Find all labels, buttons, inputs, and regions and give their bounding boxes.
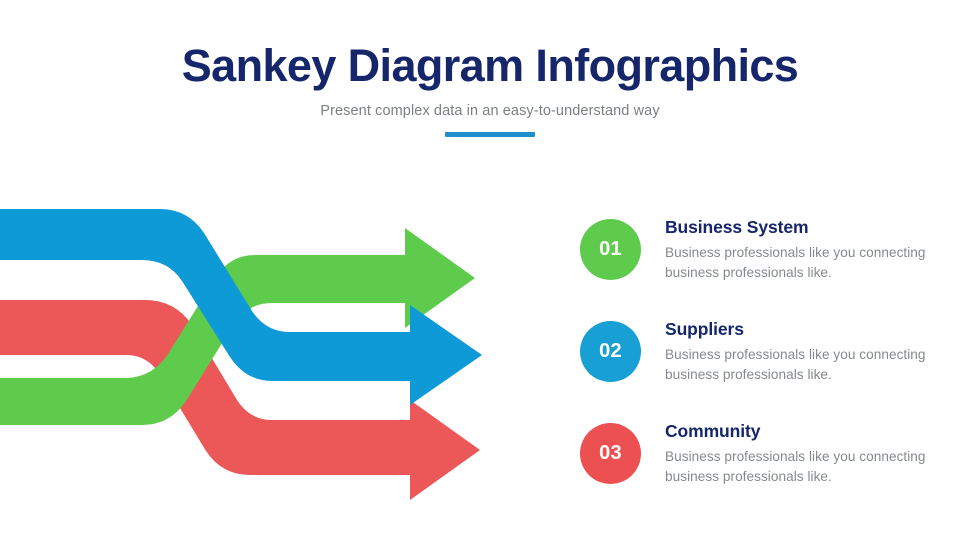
step-title-03: Community — [665, 420, 970, 443]
step-title-02: Suppliers — [665, 318, 970, 341]
step-text-03: Community Business professionals like yo… — [641, 418, 970, 486]
step-number-02: 02 — [599, 340, 622, 363]
step-badge-02: 02 — [580, 321, 641, 382]
sankey-diagram-svg — [0, 185, 560, 525]
step-number-03: 03 — [599, 442, 622, 465]
step-badge-01: 01 — [580, 219, 641, 280]
step-badge-03: 03 — [580, 423, 641, 484]
step-item-01[interactable]: 01 Business System Business professional… — [580, 214, 970, 282]
step-text-02: Suppliers Business professionals like yo… — [641, 316, 970, 384]
page-header: Sankey Diagram Infographics Present comp… — [0, 0, 980, 137]
steps-list: 01 Business System Business professional… — [580, 214, 970, 486]
step-item-03[interactable]: 03 Community Business professionals like… — [580, 418, 970, 486]
step-item-02[interactable]: 02 Suppliers Business professionals like… — [580, 316, 970, 384]
page-subtitle: Present complex data in an easy-to-under… — [0, 94, 980, 121]
step-number-01: 01 — [599, 238, 622, 261]
step-description-02: Business professionals like you connecti… — [665, 341, 970, 384]
step-description-03: Business professionals like you connecti… — [665, 443, 970, 486]
title-accent-bar — [445, 132, 535, 137]
page-title: Sankey Diagram Infographics — [0, 0, 980, 94]
step-title-01: Business System — [665, 216, 970, 239]
sankey-diagram — [0, 185, 560, 525]
step-text-01: Business System Business professionals l… — [641, 214, 970, 282]
step-description-01: Business professionals like you connecti… — [665, 239, 970, 282]
